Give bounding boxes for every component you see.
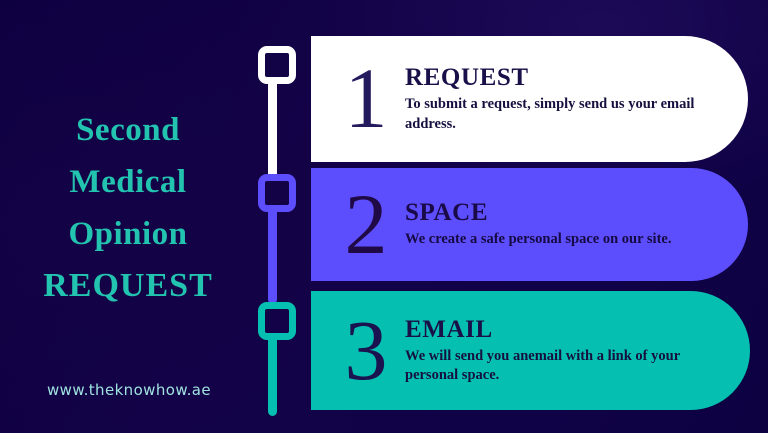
step-heading-1: REQUEST [405,64,722,92]
step-number-1: 1 [327,59,405,138]
timeline-stem-1 [268,80,277,178]
step-description-2: We create a safe personal space on our s… [405,230,722,249]
timeline-marker-3 [258,302,296,340]
timeline-stem-3 [268,336,277,416]
step-card-2[interactable]: 2 SPACE We create a safe personal space … [311,168,748,281]
title-line-3: Opinion [0,208,256,260]
title-line-1: Second [0,104,256,156]
timeline-marker-2 [258,174,296,212]
title-block: Second Medical Opinion REQUEST [0,104,256,312]
step-heading-3: EMAIL [405,316,724,344]
timeline-stem-2 [268,208,277,304]
step-description-3: We will send you anemail with a link of … [405,347,705,385]
step-number-3: 3 [327,311,405,390]
step-content-1: REQUEST To submit a request, simply send… [405,64,748,133]
timeline [252,40,306,425]
step-content-2: SPACE We create a safe personal space on… [405,199,748,249]
step-card-1[interactable]: 1 REQUEST To submit a request, simply se… [311,36,748,162]
step-card-3[interactable]: 3 EMAIL We will send you anemail with a … [311,291,750,410]
website-url: www.theknowhow.ae [0,381,258,399]
title-line-2: Medical [0,156,256,208]
step-number-2: 2 [327,185,405,264]
step-content-3: EMAIL We will send you anemail with a li… [405,316,750,385]
infographic-canvas: Second Medical Opinion REQUEST www.thekn… [0,0,768,433]
step-heading-2: SPACE [405,199,722,227]
title-line-4: REQUEST [0,260,256,312]
step-description-1: To submit a request, simply send us your… [405,95,705,133]
timeline-marker-1 [258,46,296,84]
